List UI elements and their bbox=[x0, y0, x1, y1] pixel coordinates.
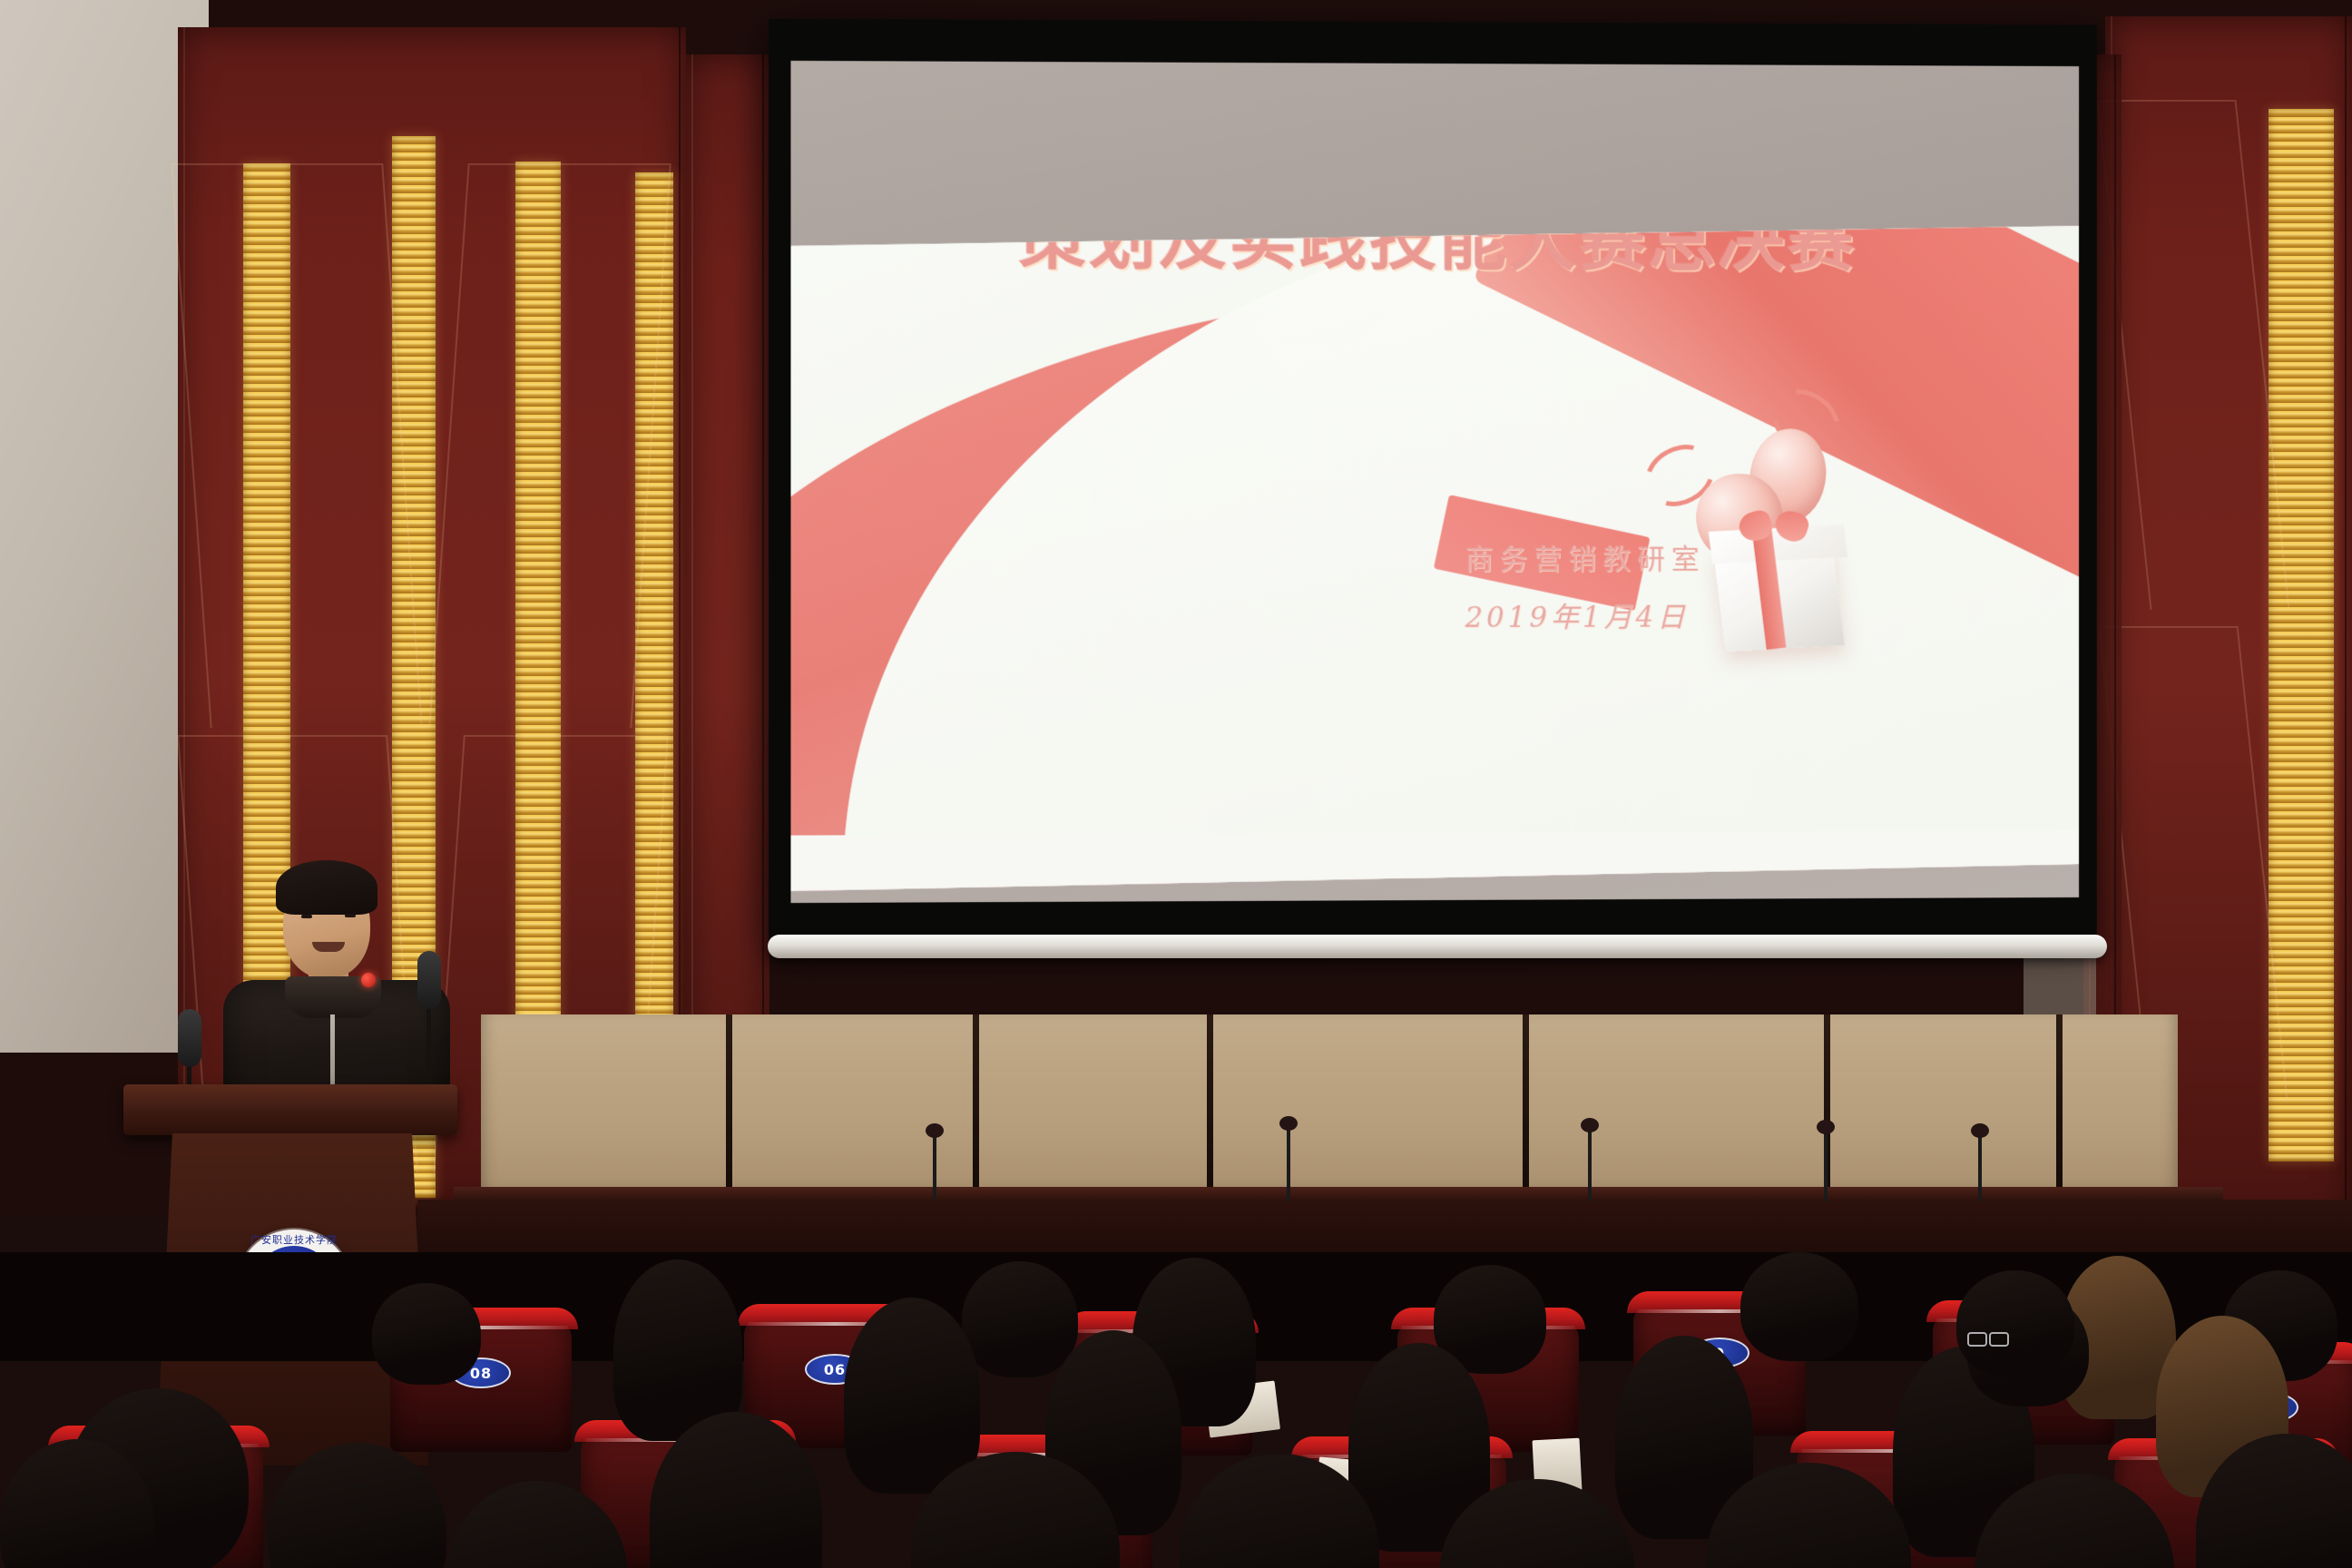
podium-mic-head bbox=[178, 1009, 201, 1067]
stage-microphone bbox=[1824, 1131, 1828, 1201]
audience-head bbox=[372, 1283, 481, 1385]
panel-divider bbox=[1207, 1014, 1213, 1205]
podium-mic-head bbox=[417, 951, 441, 1009]
panel-divider bbox=[726, 1014, 732, 1205]
stage-microphone bbox=[1588, 1129, 1592, 1201]
auditorium-scene: 经管学院“魅力营销” 营销 策划及实践技能大赛总决赛 商务营销教研室 2019年… bbox=[0, 0, 2352, 1568]
presentation-slide: 经管学院“魅力营销” 营销 策划及实践技能大赛总决赛 商务营销教研室 2019年… bbox=[790, 61, 2079, 903]
panel-divider bbox=[1523, 1014, 1529, 1205]
podium-top-surface bbox=[123, 1084, 457, 1135]
audience-head bbox=[1740, 1252, 1858, 1361]
slide-department: 商务营销教研室 bbox=[1465, 536, 1705, 577]
panel-divider bbox=[973, 1014, 979, 1205]
presenter-eye bbox=[301, 915, 312, 918]
stage-microphone bbox=[933, 1134, 936, 1200]
eyeglasses-icon bbox=[1967, 1332, 2009, 1343]
presenter-hair bbox=[276, 860, 377, 915]
panel-divider bbox=[2056, 1014, 2063, 1205]
stage-microphone bbox=[1287, 1127, 1290, 1201]
slide-title: 经管学院“魅力营销” 营销 策划及实践技能大赛总决赛 bbox=[869, 120, 2003, 281]
gold-flute-strip bbox=[2269, 109, 2334, 1161]
presenter-mouth bbox=[312, 942, 345, 952]
screen-weight-bar bbox=[768, 935, 2107, 958]
stage-acoustic-wall bbox=[481, 1014, 2178, 1205]
projection-screen-assembly: 经管学院“魅力营销” 营销 策划及实践技能大赛总决赛 商务营销教研室 2019年… bbox=[773, 22, 2102, 1011]
screen-surface: 经管学院“魅力营销” 营销 策划及实践技能大赛总决赛 商务营销教研室 2019年… bbox=[790, 61, 2079, 903]
gift-box-graphic bbox=[1683, 424, 2015, 857]
emblem-chinese-name: 广安职业技术学院 bbox=[236, 1232, 352, 1247]
panel-chevron bbox=[428, 163, 671, 728]
slide-date: 2019年1月4日 bbox=[1465, 594, 1689, 635]
stage-microphone bbox=[1978, 1134, 1982, 1201]
projected-image-area: 经管学院“魅力营销” 营销 策划及实践技能大赛总决赛 商务营销教研室 2019年… bbox=[790, 61, 2079, 903]
gift-bow-icon bbox=[1739, 512, 1808, 543]
audience-section: 08 06 0 03 08 06 bbox=[0, 1252, 2352, 1568]
presenter-eye bbox=[345, 914, 356, 917]
panel-chevron bbox=[171, 163, 422, 728]
audience-head bbox=[269, 1443, 446, 1568]
mic-indicator-light bbox=[361, 973, 376, 987]
audience-head bbox=[962, 1261, 1078, 1377]
audience-head bbox=[844, 1298, 980, 1494]
audience-head bbox=[1956, 1270, 2074, 1377]
screen-frame: 经管学院“魅力营销” 营销 策划及实践技能大赛总决赛 商务营销教研室 2019年… bbox=[769, 18, 2097, 943]
